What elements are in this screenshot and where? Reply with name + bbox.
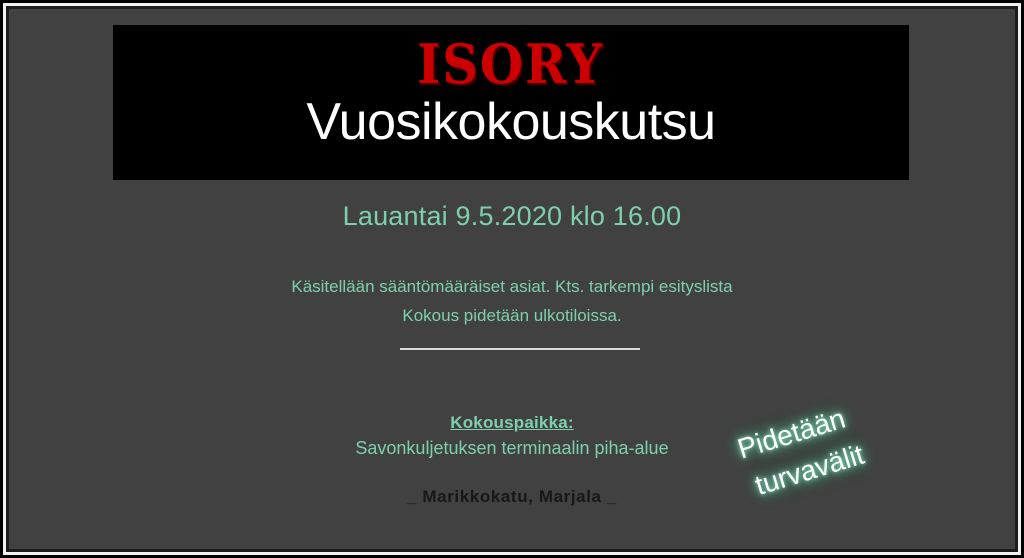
slide-title: Vuosikokouskutsu xyxy=(306,95,715,150)
title-banner: ISORY Vuosikokouskutsu xyxy=(113,25,909,180)
organization-name: ISORY xyxy=(418,37,605,91)
meeting-datetime: Lauantai 9.5.2020 klo 16.00 xyxy=(9,201,1015,232)
slide-canvas: ISORY Vuosikokouskutsu Lauantai 9.5.2020… xyxy=(9,9,1015,549)
agenda-block: Käsitellään sääntömääräiset asiat. Kts. … xyxy=(9,272,1015,330)
venue-address: Savonkuljetuksen terminaalin piha-alue xyxy=(9,438,1015,459)
presentation-slide: ISORY Vuosikokouskutsu Lauantai 9.5.2020… xyxy=(0,0,1024,558)
agenda-line-1: Käsitellään sääntömääräiset asiat. Kts. … xyxy=(9,272,1015,301)
agenda-line-2: Kokous pidetään ulkotiloissa. xyxy=(9,301,1015,330)
venue-block: Kokouspaikka: Savonkuljetuksen terminaal… xyxy=(9,413,1015,459)
horizontal-divider xyxy=(400,348,640,350)
venue-street: _ Marikkokatu, Marjala _ xyxy=(9,487,1015,507)
venue-heading: Kokouspaikka: xyxy=(9,413,1015,433)
